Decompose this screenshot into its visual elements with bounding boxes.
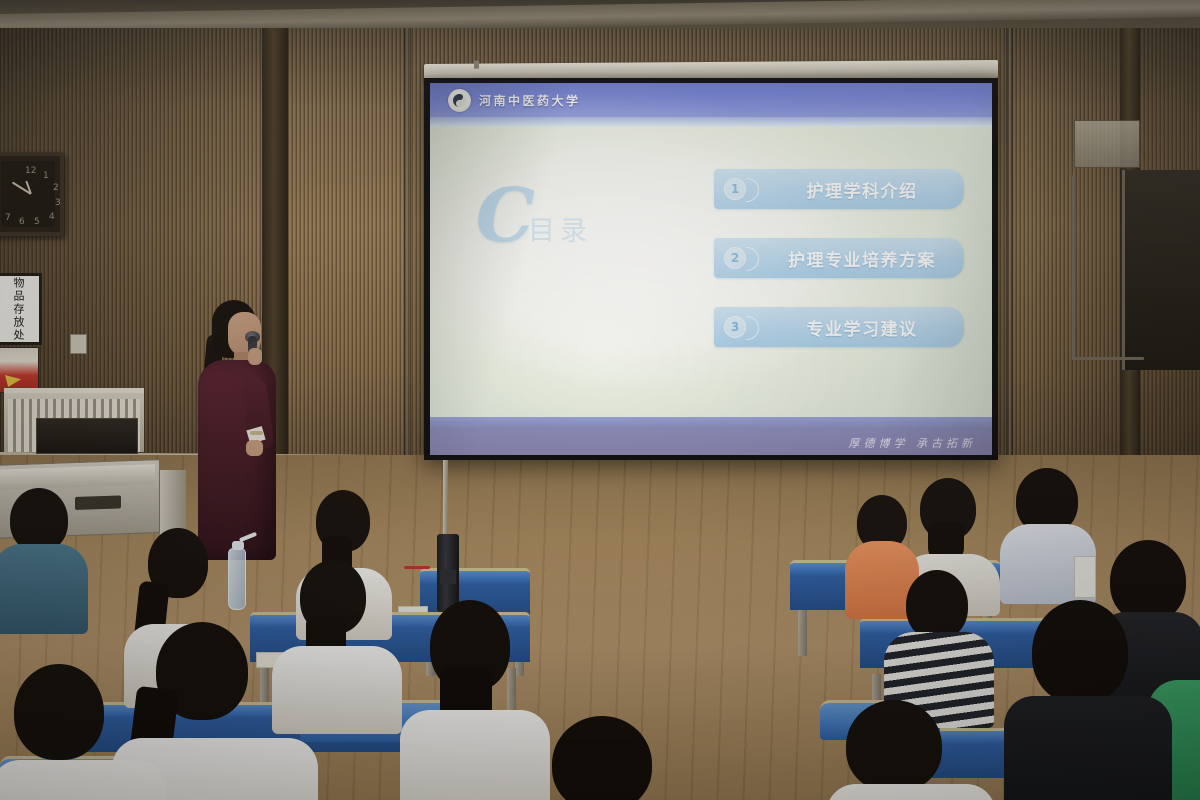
upper-right-panel <box>1074 120 1140 168</box>
university-name: 河南中医药大学 <box>479 92 581 109</box>
student-near-2 <box>1004 600 1164 800</box>
toc-letter-c: C <box>476 179 535 253</box>
wall-poster <box>0 347 39 393</box>
slide-header-bar: 河南中医药大学 <box>430 83 992 117</box>
lecturer <box>190 300 290 560</box>
storage-area-sign: 物品存放处 <box>0 273 42 345</box>
agenda-item-3[interactable]: 3 专业学习建议 <box>714 307 964 347</box>
slide-footer-bar: 厚德博学 承古拓新 <box>430 417 992 455</box>
bottle-cap <box>232 541 244 550</box>
clock-number-1: 1 <box>43 171 49 181</box>
student-near-4 <box>0 664 150 800</box>
desk-leg <box>798 610 807 656</box>
student-head <box>14 664 104 760</box>
clock-number-2: 2 <box>53 183 59 193</box>
clock-number-6: 6 <box>19 217 25 227</box>
slide-header-underline <box>430 117 992 127</box>
agenda-item-2[interactable]: 2 护理专业培养方案 <box>714 238 964 278</box>
agenda-label-3: 专业学习建议 <box>766 315 964 340</box>
storage-sign-label: 物品存放处 <box>10 277 26 342</box>
university-motto: 厚德博学 承古拓新 <box>849 435 977 451</box>
student-head <box>846 700 942 792</box>
wall-conduit-horizontal <box>1072 357 1144 360</box>
clock-number-7: 7 <box>5 213 11 223</box>
clock-number-12: 12 <box>25 166 36 176</box>
upright-paper-card <box>1074 556 1096 598</box>
agenda-number-2: 2 <box>724 247 746 269</box>
student-near-5 <box>532 716 682 800</box>
projection-screen-frame: 河南中医药大学 C 目录 1 护理学科介绍 2 护理专业培养方案 <box>424 78 998 460</box>
student-body <box>0 760 166 800</box>
student-head <box>1032 600 1128 704</box>
projection-screen: 河南中医药大学 C 目录 1 护理学科介绍 2 护理专业培养方案 <box>430 83 992 455</box>
student-head <box>906 570 968 640</box>
student-head <box>10 488 68 552</box>
student-body <box>826 784 996 800</box>
lecturer-wristwatch <box>250 431 263 435</box>
table-of-contents-mark: C 目录 <box>476 189 646 261</box>
taiji-university-emblem-icon <box>448 89 471 112</box>
agenda-number-1: 1 <box>724 178 746 200</box>
thermos-label <box>440 570 456 584</box>
clock-number-5: 5 <box>34 217 40 227</box>
agenda-number-3: 3 <box>724 316 746 338</box>
student-head <box>552 716 652 800</box>
taiji-symbol-icon <box>453 94 466 107</box>
lecturer-hand-upper <box>248 348 262 365</box>
student-near-1 <box>396 600 546 800</box>
light-switch[interactable] <box>70 334 87 354</box>
agenda-label-1: 护理学科介绍 <box>766 177 964 202</box>
wall-clock: 12 1 2 3 4 5 6 7 <box>0 152 64 236</box>
wall-conduit-vertical <box>1072 175 1075 360</box>
lecturer-hand-lower <box>246 440 263 456</box>
red-pen <box>404 566 430 569</box>
poster-flag-graphic <box>5 375 21 387</box>
slide-body: C 目录 1 护理学科介绍 2 护理专业培养方案 3 专业学习建议 <box>430 127 992 417</box>
equipment-cabinet-lid <box>0 464 155 490</box>
screen-mount-bracket <box>474 61 479 69</box>
radiator-lower-panel <box>36 418 138 454</box>
student-body <box>0 544 88 634</box>
lecture-hall-photo: 12 1 2 3 4 5 6 7 物品存放处 <box>0 0 1200 800</box>
wall-seam-right <box>1006 28 1013 468</box>
student-near-6 <box>836 700 976 800</box>
clock-face: 12 1 2 3 4 5 6 7 <box>1 161 55 227</box>
student-body <box>400 710 550 800</box>
student-body <box>1004 696 1172 800</box>
clock-number-4: 4 <box>49 212 55 222</box>
water-bottle <box>228 548 246 610</box>
wall-seam-left <box>404 28 411 468</box>
agenda-label-2: 护理专业培养方案 <box>766 246 964 271</box>
agenda-item-1[interactable]: 1 护理学科介绍 <box>714 169 964 209</box>
side-blackboard <box>1122 170 1200 370</box>
student-striped <box>884 570 994 720</box>
clock-number-3: 3 <box>55 198 61 208</box>
student-teal <box>0 488 86 628</box>
agenda-list: 1 护理学科介绍 2 护理专业培养方案 3 专业学习建议 <box>714 169 964 347</box>
toc-heading: 目录 <box>528 209 592 248</box>
